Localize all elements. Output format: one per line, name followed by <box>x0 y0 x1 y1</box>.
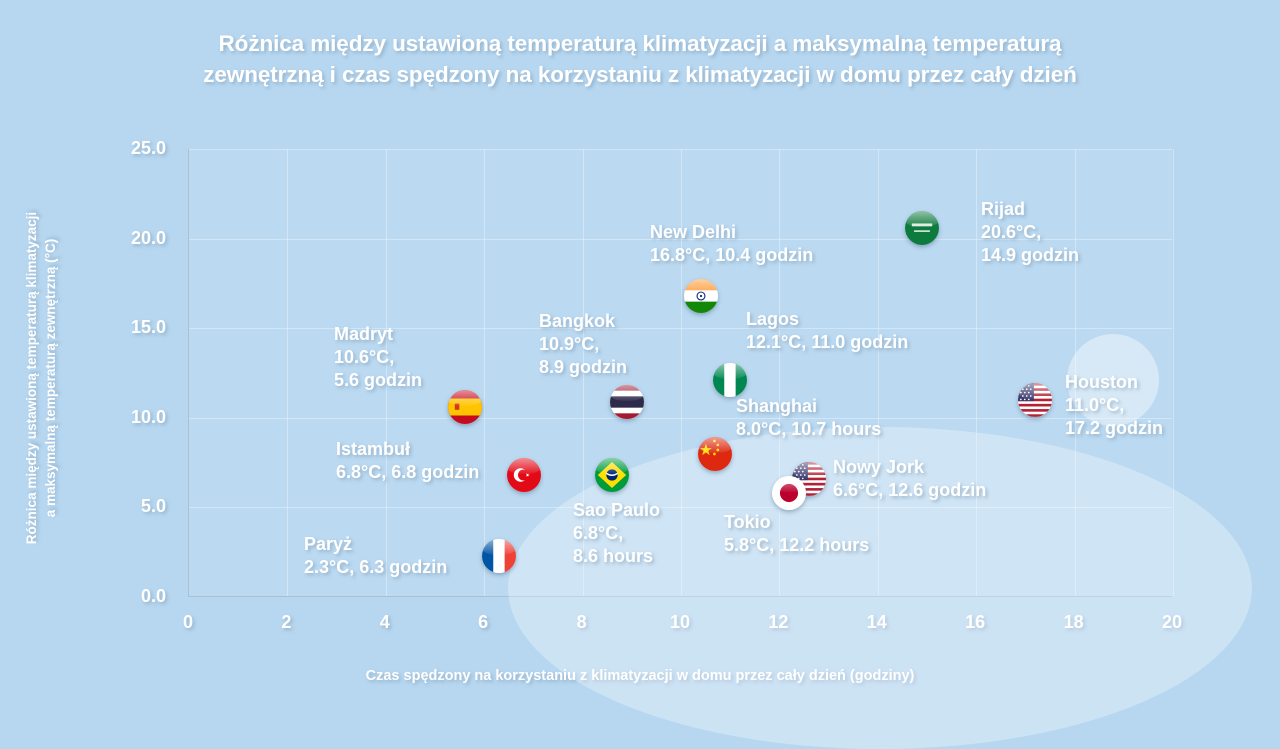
scatter-label-madryt: Madryt10.6°C,5.6 godzin <box>334 323 422 392</box>
scatter-label-line: 11.0°C, <box>1065 394 1163 417</box>
y-axis-tick-label: 0.0 <box>76 586 166 607</box>
y-axis-title-line-2: a maksymalną temperaturą zewnętrzną (°C) <box>41 98 60 658</box>
page-title: Różnica między ustawioną temperaturą kli… <box>0 28 1280 90</box>
scatter-label-line: 5.6 godzin <box>334 369 422 392</box>
scatter-label-line: Tokio <box>724 511 869 534</box>
x-axis-tick-label: 14 <box>847 612 907 633</box>
y-axis-title-line-1: Różnica między ustawioną temperaturą kli… <box>22 98 41 658</box>
gridline-vertical <box>287 149 288 596</box>
x-axis-tick-label: 8 <box>552 612 612 633</box>
scatter-label-line: 14.9 godzin <box>981 244 1079 267</box>
y-axis-title: Różnica między ustawioną temperaturą kli… <box>22 98 60 658</box>
gridline-vertical <box>681 149 682 596</box>
scatter-label-line: 8.6 hours <box>573 545 660 568</box>
y-axis-tick-label: 5.0 <box>76 496 166 517</box>
scatter-label-line: 16.8°C, 10.4 godzin <box>650 244 813 267</box>
x-axis-tick-label: 6 <box>453 612 513 633</box>
scatter-marker-bangkok[interactable] <box>610 385 644 419</box>
scatter-marker-pary-[interactable] <box>482 539 516 573</box>
scatter-marker-sao-paulo[interactable] <box>595 458 629 492</box>
scatter-label-line: 8.0°C, 10.7 hours <box>736 418 881 441</box>
y-axis-tick-label: 15.0 <box>76 317 166 338</box>
scatter-marker-lagos[interactable] <box>713 363 747 397</box>
x-axis-tick-label: 12 <box>748 612 808 633</box>
scatter-label-bangkok: Bangkok10.9°C,8.9 godzin <box>539 310 627 379</box>
scatter-label-new-delhi: New Delhi16.8°C, 10.4 godzin <box>650 221 813 267</box>
gridline-vertical <box>976 149 977 596</box>
scatter-label-line: 20.6°C, <box>981 221 1079 244</box>
scatter-marker-tokio[interactable] <box>772 476 806 510</box>
scatter-marker-new-delhi[interactable] <box>684 279 718 313</box>
scatter-label-line: 6.6°C, 12.6 godzin <box>833 479 986 502</box>
scatter-label-line: Madryt <box>334 323 422 346</box>
x-axis-tick-label: 4 <box>355 612 415 633</box>
scatter-label-line: 17.2 godzin <box>1065 417 1163 440</box>
gridline-horizontal <box>189 507 1172 508</box>
scatter-label-tokio: Tokio5.8°C, 12.2 hours <box>724 511 869 557</box>
scatter-label-line: Lagos <box>746 308 908 331</box>
scatter-label-line: Sao Paulo <box>573 499 660 522</box>
scatter-label-line: 12.1°C, 11.0 godzin <box>746 331 908 354</box>
scatter-marker-houston[interactable] <box>1018 383 1052 417</box>
title-line-2: zewnętrzną i czas spędzony na korzystani… <box>0 59 1280 90</box>
scatter-label-line: 8.9 godzin <box>539 356 627 379</box>
gridline-horizontal <box>189 418 1172 419</box>
scatter-label-line: Rijad <box>981 198 1079 221</box>
scatter-marker-shanghai[interactable] <box>698 437 732 471</box>
gridline-horizontal <box>189 149 1172 150</box>
scatter-label-houston: Houston11.0°C,17.2 godzin <box>1065 371 1163 440</box>
scatter-label-sao-paulo: Sao Paulo6.8°C,8.6 hours <box>573 499 660 568</box>
scatter-label-line: 6.8°C, 6.8 godzin <box>336 461 479 484</box>
scatter-label-rijad: Rijad20.6°C,14.9 godzin <box>981 198 1079 267</box>
title-line-1: Różnica między ustawioną temperaturą kli… <box>0 28 1280 59</box>
scatter-label-line: New Delhi <box>650 221 813 244</box>
y-axis-tick-label: 20.0 <box>76 228 166 249</box>
scatter-label-lagos: Lagos12.1°C, 11.0 godzin <box>746 308 908 354</box>
scatter-label-line: 6.8°C, <box>573 522 660 545</box>
scatter-label-istambu-: Istambuł6.8°C, 6.8 godzin <box>336 438 479 484</box>
scatter-label-pary-: Paryż2.3°C, 6.3 godzin <box>304 533 447 579</box>
x-axis-tick-label: 0 <box>158 612 218 633</box>
scatter-label-line: Paryż <box>304 533 447 556</box>
scatter-label-line: Nowy Jork <box>833 456 986 479</box>
scatter-label-line: 5.8°C, 12.2 hours <box>724 534 869 557</box>
x-axis-tick-label: 16 <box>945 612 1005 633</box>
scatter-label-line: 2.3°C, 6.3 godzin <box>304 556 447 579</box>
scatter-label-line: Houston <box>1065 371 1163 394</box>
scatter-label-line: Bangkok <box>539 310 627 333</box>
x-axis-tick-label: 10 <box>650 612 710 633</box>
gridline-vertical <box>1173 149 1174 596</box>
y-axis-tick-label: 10.0 <box>76 407 166 428</box>
gridline-vertical <box>484 149 485 596</box>
scatter-label-line: 10.9°C, <box>539 333 627 356</box>
scatter-label-line: Istambuł <box>336 438 479 461</box>
scatter-label-shanghai: Shanghai8.0°C, 10.7 hours <box>736 395 881 441</box>
scatter-marker-rijad[interactable] <box>905 211 939 245</box>
scatter-marker-madryt[interactable] <box>448 390 482 424</box>
y-axis-tick-label: 25.0 <box>76 138 166 159</box>
plot-area: Rijad20.6°C,14.9 godzinNew Delhi16.8°C, … <box>188 149 1172 597</box>
scatter-label-line: Shanghai <box>736 395 881 418</box>
scatter-label-line: 10.6°C, <box>334 346 422 369</box>
scatter-marker-istambu-[interactable] <box>507 458 541 492</box>
gridline-vertical <box>878 149 879 596</box>
x-axis-tick-label: 20 <box>1142 612 1202 633</box>
x-axis-tick-label: 18 <box>1044 612 1104 633</box>
scatter-label-nowy-jork: Nowy Jork6.6°C, 12.6 godzin <box>833 456 986 502</box>
x-axis-title: Czas spędzony na korzystaniu z klimatyza… <box>0 668 1280 684</box>
x-axis-tick-label: 2 <box>256 612 316 633</box>
